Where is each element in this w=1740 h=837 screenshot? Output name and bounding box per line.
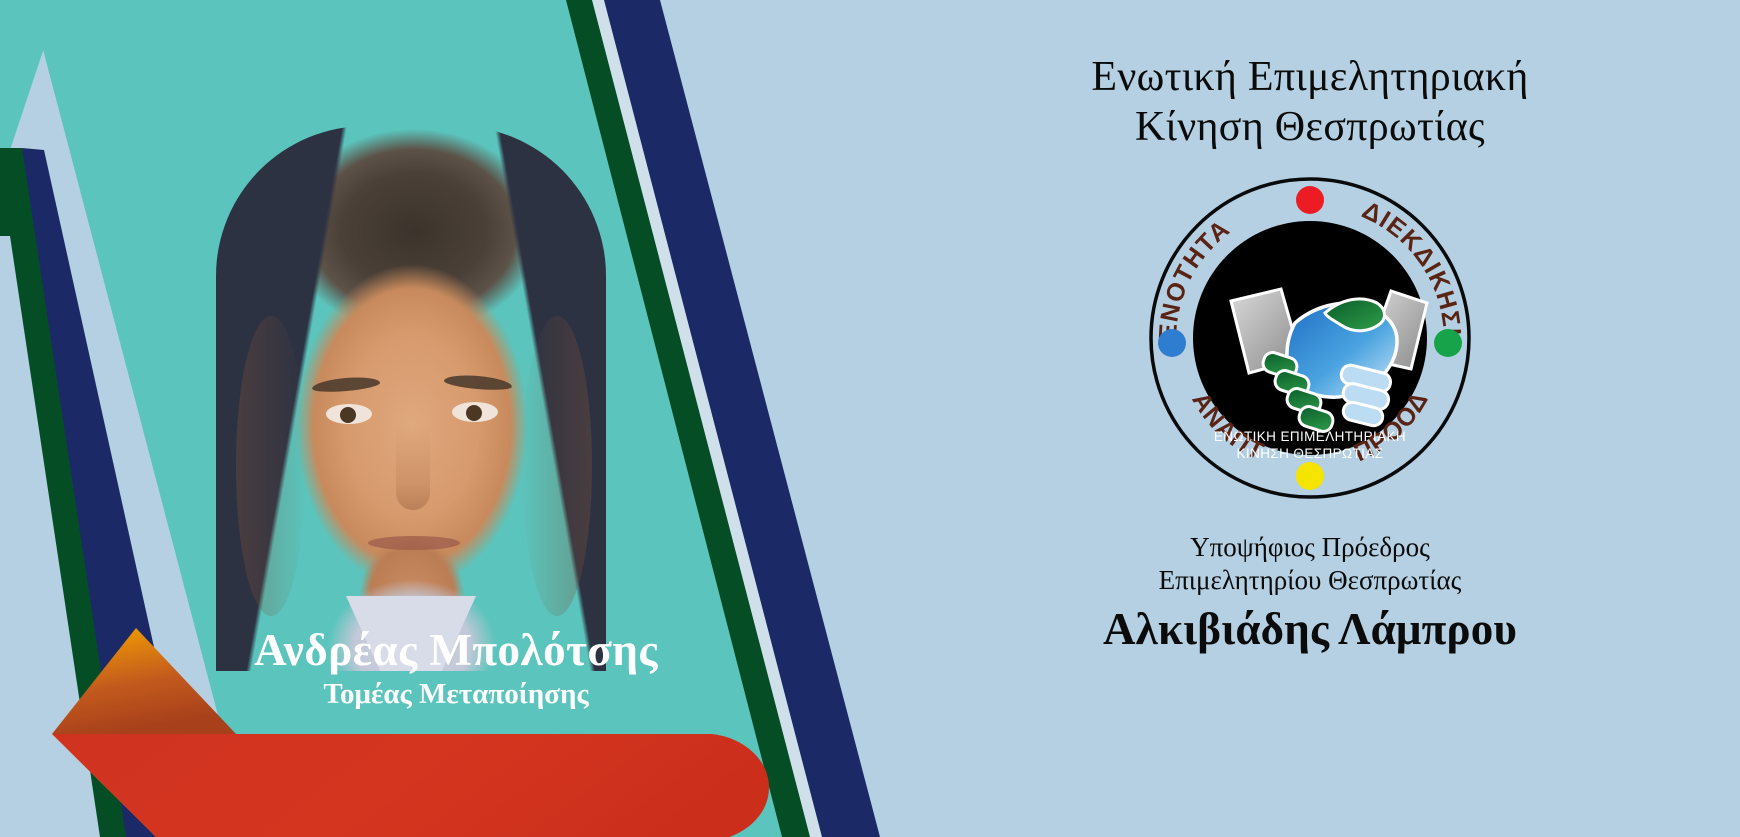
nose <box>396 426 430 510</box>
candidate-name: Αλκιβιάδης Λάμπρου <box>1103 603 1517 655</box>
organization-title: Ενωτική Επιμελητηριακή Κίνηση Θεσπρωτίας <box>1091 52 1528 153</box>
eyebrow-left <box>312 375 381 394</box>
organization-title-line1: Ενωτική Επιμελητηριακή <box>1091 52 1528 102</box>
logo-inner-line2: ΚΙΝΗΣΗ ΘΕΣΠΡΩΤΙΑΣ <box>1237 446 1384 461</box>
eyebrow-right <box>444 373 513 392</box>
candidate-role-line2: Επιμελητηρίου Θεσπρωτίας <box>1103 564 1517 597</box>
logo-dot-green <box>1434 329 1462 357</box>
name-ribbon <box>40 586 830 837</box>
logo-svg: ΕΝΟΤΗΤΑ ΔΙΕΚΔΙΚΗΣΗ ΑΝΑΠΤΥΞΗ ΠΡΟΟΔΟΣ <box>1145 173 1475 503</box>
mouth <box>368 536 460 550</box>
logo-dot-red <box>1296 186 1324 214</box>
logo-dot-yellow <box>1296 462 1324 490</box>
organization-title-line2: Κίνηση Θεσπρωτίας <box>1091 102 1528 152</box>
organization-logo: ΕΝΟΤΗΤΑ ΔΙΕΚΔΙΚΗΣΗ ΑΝΑΠΤΥΞΗ ΠΡΟΟΔΟΣ <box>1145 173 1475 503</box>
iris-right <box>466 405 482 421</box>
campaign-banner: Ανδρέας Μπολότσης Τομέας Μεταποίησης Ενω… <box>0 0 1740 837</box>
ribbon-fold <box>52 628 236 734</box>
candidate-role-line1: Υποψήφιος Πρόεδρος <box>1103 531 1517 564</box>
candidate-block: Υποψήφιος Πρόεδρος Επιμελητηρίου Θεσπρωτ… <box>1103 531 1517 655</box>
logo-inner-line1: ΕΝΩΤΙΚΗ ΕΠΙΜΕΛΗΤΗΡΙΑΚΗ <box>1214 429 1406 444</box>
candidate-role: Υποψήφιος Πρόεδρος Επιμελητηρίου Θεσπρωτ… <box>1103 531 1517 597</box>
logo-dot-blue <box>1158 329 1186 357</box>
ribbon-body <box>52 734 769 837</box>
iris-left <box>340 407 356 423</box>
face-shadow-left <box>236 316 306 616</box>
right-column: Ενωτική Επιμελητηριακή Κίνηση Θεσπρωτίας <box>880 0 1740 837</box>
face-shadow-right <box>522 316 592 616</box>
